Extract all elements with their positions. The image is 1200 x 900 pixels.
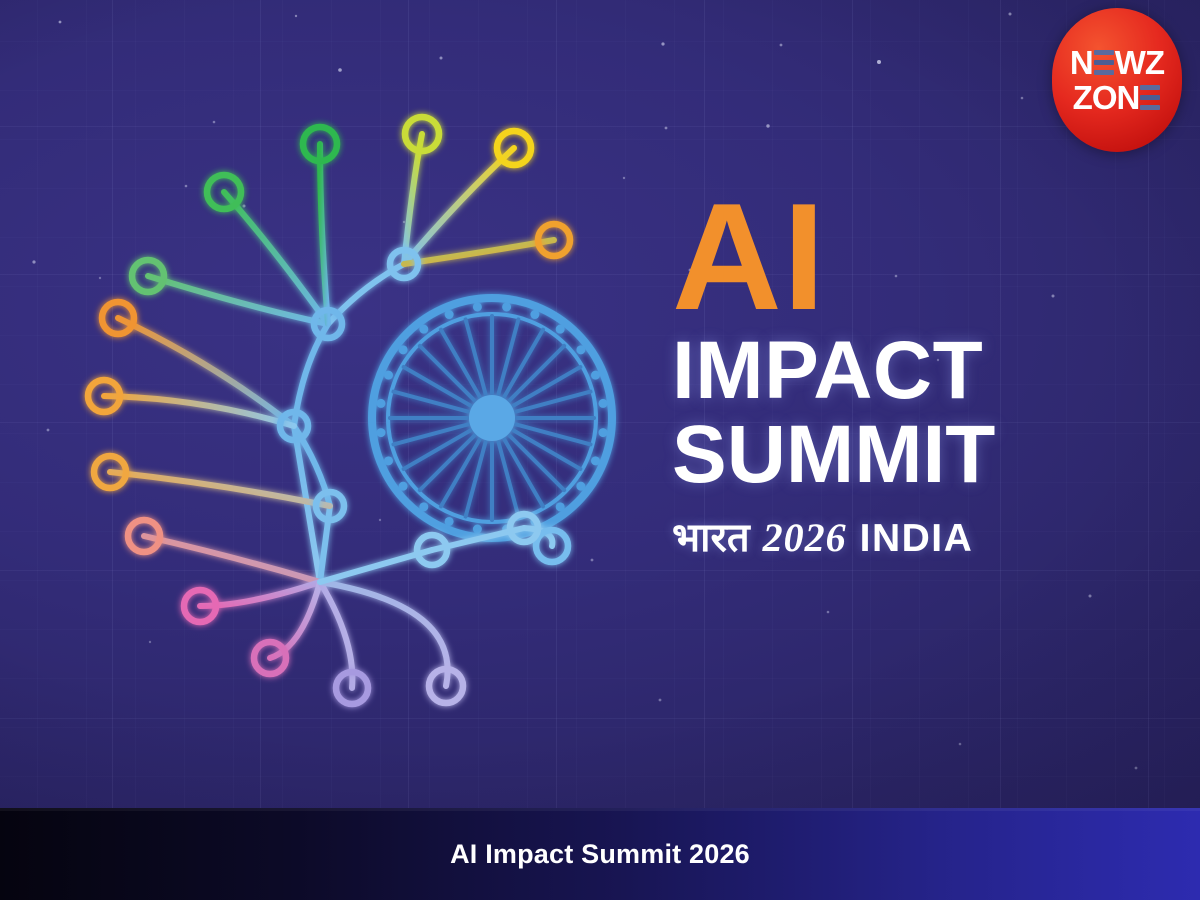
ai-impact-summit-emblem bbox=[52, 86, 672, 726]
watermark-line-zone: ZON bbox=[1073, 81, 1162, 114]
watermark-lettering: N WZ ZON bbox=[1052, 8, 1182, 152]
tagline-year: 2026 bbox=[763, 514, 847, 561]
bar-e-icon bbox=[1140, 85, 1160, 110]
watermark-n: N bbox=[1070, 46, 1093, 79]
tagline-hindi: भारत bbox=[672, 518, 750, 558]
tagline-country: INDIA bbox=[860, 517, 974, 561]
watermark-line-newz: N WZ bbox=[1070, 46, 1164, 79]
wordmark-ai: AI bbox=[672, 186, 1142, 329]
caption-top-seam bbox=[0, 808, 1200, 811]
bar-e-icon bbox=[1094, 50, 1114, 75]
summit-wordmark: AI IMPACT SUMMIT भारत 2026 INDIA bbox=[672, 186, 1142, 561]
newzzone-watermark: N WZ ZON bbox=[1052, 8, 1182, 152]
watermark-zon: ZON bbox=[1073, 81, 1140, 114]
watermark-wz: WZ bbox=[1115, 46, 1164, 79]
wordmark-summit: SUMMIT bbox=[672, 413, 1142, 497]
caption-bar: AI Impact Summit 2026 bbox=[0, 808, 1200, 900]
hero-image: AI IMPACT SUMMIT भारत 2026 INDIA N WZ ZO… bbox=[0, 0, 1200, 808]
caption-title: AI Impact Summit 2026 bbox=[450, 839, 750, 870]
ashoka-chakra-icon bbox=[372, 298, 612, 538]
screenshot-root: AI IMPACT SUMMIT भारत 2026 INDIA N WZ ZO… bbox=[0, 0, 1200, 900]
wordmark-impact: IMPACT bbox=[672, 329, 1142, 413]
wordmark-tagline: भारत 2026 INDIA bbox=[672, 514, 1142, 561]
